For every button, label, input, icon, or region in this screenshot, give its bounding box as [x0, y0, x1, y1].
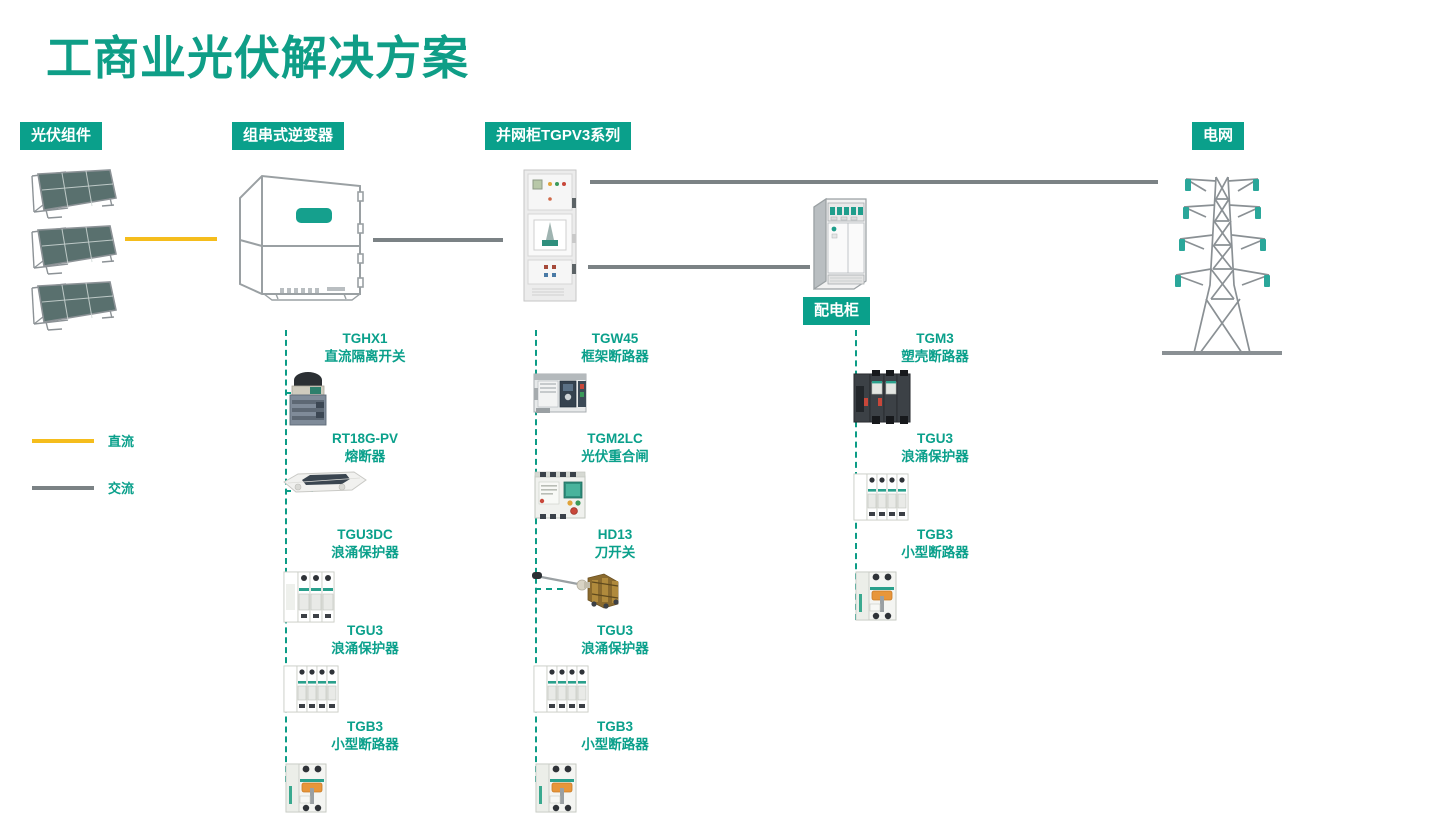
- legend-ac: 交流: [32, 478, 134, 497]
- pv-array-3: [22, 280, 122, 338]
- badge-power-grid: 电网: [1192, 122, 1244, 150]
- ac-line-grid-cabinet-to-distribution: [588, 265, 810, 269]
- component-desc: 浪涌保护器: [280, 544, 450, 562]
- component-desc: 框架断路器: [530, 348, 700, 366]
- component-item: TGU3 浪涌保护器: [280, 622, 450, 718]
- component-desc: 直流隔离开关: [280, 348, 450, 366]
- component-desc: 刀开关: [530, 544, 700, 562]
- component-desc: 塑壳断路器: [850, 348, 1020, 366]
- component-code: TGB3: [530, 718, 700, 736]
- component-item: TGHX1 直流隔离开关: [280, 330, 450, 430]
- component-code: RT18G-PV: [280, 430, 450, 448]
- component-code: TGM2LC: [530, 430, 700, 448]
- component-code: TGB3: [280, 718, 450, 736]
- component-item: TGU3 浪涌保护器: [530, 622, 700, 718]
- component-item: TGB3 小型断路器: [530, 718, 700, 818]
- component-desc: 光伏重合闸: [530, 448, 700, 466]
- component-code: TGHX1: [280, 330, 450, 348]
- component-desc: 小型断路器: [530, 736, 700, 754]
- component-code: TGU3: [530, 622, 700, 640]
- ac-line-inverter-to-grid-cabinet: [373, 238, 503, 242]
- mccb-art: [850, 368, 1020, 426]
- component-item: HD13 刀开关: [530, 526, 700, 612]
- grid-tie-cabinet-art: [522, 168, 578, 303]
- badge-string-inverter: 组串式逆变器: [232, 122, 344, 150]
- component-code: TGB3: [850, 526, 1020, 544]
- component-code: TGU3: [280, 622, 450, 640]
- legend-ac-label: 交流: [108, 478, 134, 497]
- component-code: TGU3: [850, 430, 1020, 448]
- mcb-2p-art: [280, 756, 450, 818]
- component-desc: 小型断路器: [850, 544, 1020, 562]
- component-item: TGW45 框架断路器: [530, 330, 700, 418]
- component-item: RT18G-PV 熔断器: [280, 430, 450, 498]
- knife-switch-art: [530, 564, 700, 612]
- component-item: TGU3 浪涌保护器: [850, 430, 1020, 526]
- legend-ac-swatch: [32, 486, 94, 490]
- component-item: TGM2LC 光伏重合闸: [530, 430, 700, 522]
- page-title: 工商业光伏解决方案: [46, 22, 469, 88]
- component-desc: 浪涌保护器: [850, 448, 1020, 466]
- component-code: TGM3: [850, 330, 1020, 348]
- component-desc: 浪涌保护器: [530, 640, 700, 658]
- component-item: TGM3 塑壳断路器: [850, 330, 1020, 426]
- legend-dc: 直流: [32, 431, 134, 450]
- recloser-art: [530, 468, 700, 522]
- component-item: TGU3DC 浪涌保护器: [280, 526, 450, 626]
- legend-dc-swatch: [32, 439, 94, 443]
- badge-grid-cabinet: 并网柜TGPV3系列: [485, 122, 631, 150]
- legend-dc-label: 直流: [108, 431, 134, 450]
- component-desc: 浪涌保护器: [280, 640, 450, 658]
- ac-line-grid-cabinet-to-pylon: [590, 180, 1158, 184]
- component-code: TGW45: [530, 330, 700, 348]
- fuse-holder-art: [280, 468, 450, 498]
- rotary-isolator-art: [280, 368, 450, 430]
- string-inverter-art: [232, 168, 372, 300]
- diagram-canvas: 工商业光伏解决方案 光伏组件 组串式逆变器 并网柜TGPV3系列 配电柜 电网 …: [0, 0, 1436, 829]
- component-desc: 小型断路器: [280, 736, 450, 754]
- dc-line-pv-to-inverter: [125, 237, 217, 241]
- component-item: TGB3 小型断路器: [280, 718, 450, 818]
- pv-array-1: [22, 168, 122, 226]
- mcb-2p-art: [530, 756, 700, 818]
- distribution-cabinet-art: [808, 195, 872, 290]
- spd-4p-art: [530, 660, 700, 718]
- badge-distribution-cabinet: 配电柜: [803, 297, 870, 325]
- component-desc: 熔断器: [280, 448, 450, 466]
- spd-3p-art: [280, 564, 450, 626]
- spd-4p-art: [280, 660, 450, 718]
- component-item: TGB3 小型断路器: [850, 526, 1020, 626]
- mcb-2p-art: [850, 564, 1020, 626]
- component-code: HD13: [530, 526, 700, 544]
- transmission-tower-art: [1158, 165, 1286, 360]
- acb-art: [530, 368, 700, 418]
- component-code: TGU3DC: [280, 526, 450, 544]
- pv-array-2: [22, 224, 122, 282]
- badge-pv-modules: 光伏组件: [20, 122, 102, 150]
- spd-4p-art: [850, 468, 1020, 526]
